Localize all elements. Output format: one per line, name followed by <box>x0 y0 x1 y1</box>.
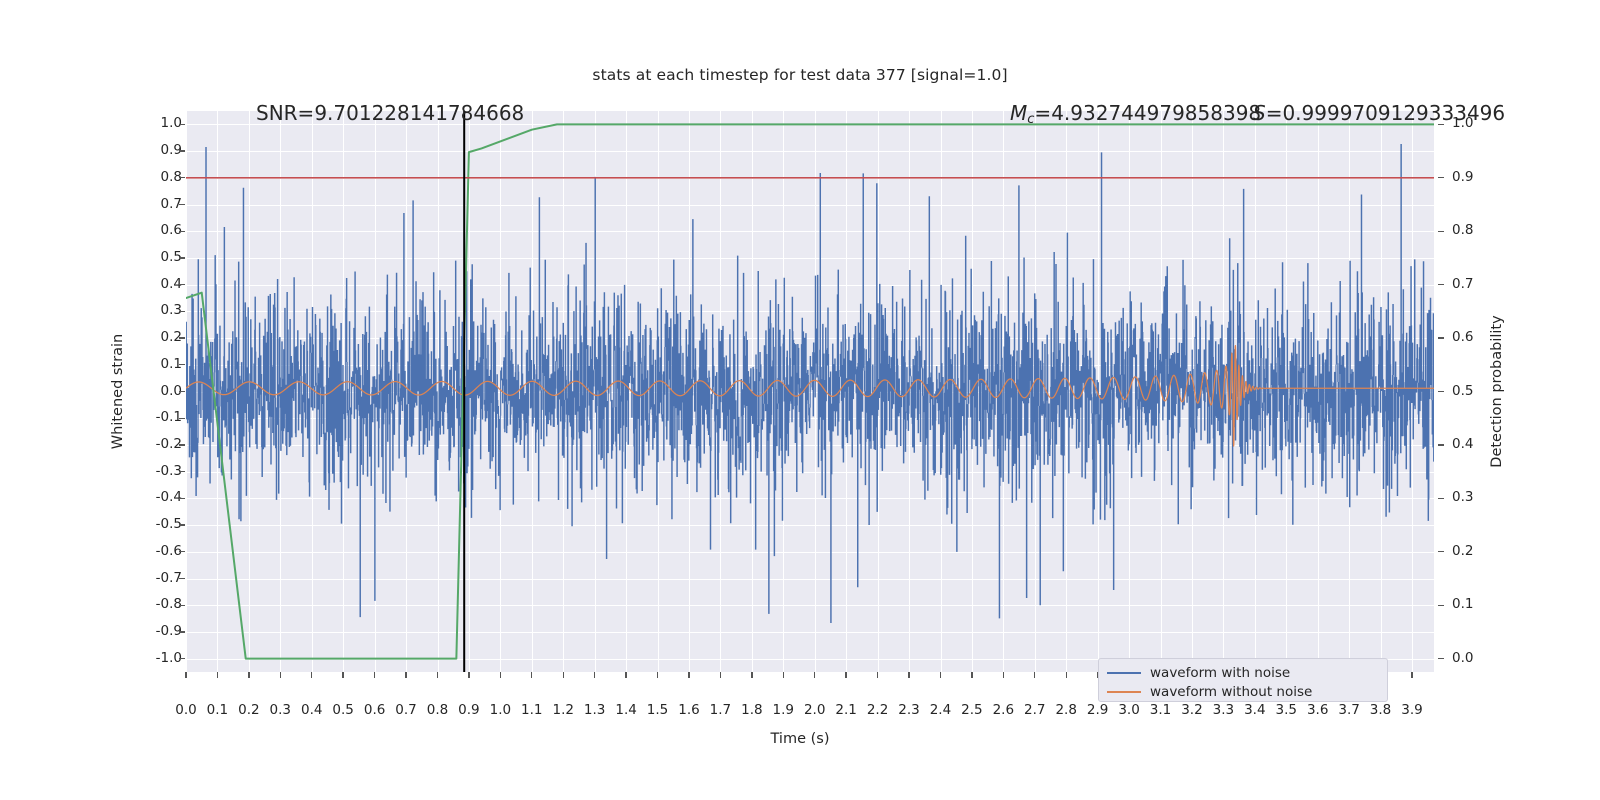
x-tick-label: 1.7 <box>710 702 731 718</box>
x-tick-label: 1.4 <box>615 702 636 718</box>
legend-label-clean: waveform without noise <box>1150 684 1312 700</box>
x-tick-label: 3.8 <box>1370 702 1391 718</box>
x-tick-mark <box>311 672 312 678</box>
x-tick-label: 1.2 <box>552 702 573 718</box>
x-tick-label: 3.3 <box>1213 702 1234 718</box>
x-tick-label: 3.2 <box>1181 702 1202 718</box>
plot-area <box>186 111 1434 672</box>
x-tick-mark <box>625 672 626 678</box>
y-tick-label-right: 0.5 <box>1452 383 1473 399</box>
x-tick-label: 0.0 <box>175 702 196 718</box>
x-tick-mark <box>248 672 249 678</box>
x-tick-mark <box>1411 672 1412 678</box>
score-value: 0.9999709129333496 <box>1282 101 1505 125</box>
snr-annotation-label: SNR= <box>256 101 314 125</box>
y-tick-mark-left <box>179 311 185 312</box>
x-tick-label: 3.5 <box>1276 702 1297 718</box>
x-tick-label: 0.2 <box>238 702 259 718</box>
x-tick-mark <box>500 672 501 678</box>
y-tick-mark-left <box>179 578 185 579</box>
x-tick-label: 0.9 <box>458 702 479 718</box>
x-tick-label: 2.9 <box>1087 702 1108 718</box>
snr-annotation-value: 9.701228141784668 <box>314 101 524 125</box>
x-tick-mark <box>563 672 564 678</box>
x-tick-label: 3.9 <box>1401 702 1422 718</box>
x-tick-mark <box>531 672 532 678</box>
y-tick-mark-left <box>179 231 185 232</box>
x-tick-label: 0.1 <box>207 702 228 718</box>
x-tick-mark <box>720 672 721 678</box>
y-tick-mark-left <box>179 284 185 285</box>
legend-swatch-clean <box>1107 691 1141 693</box>
x-tick-label: 0.8 <box>427 702 448 718</box>
y-tick-mark-right <box>1438 177 1444 178</box>
x-tick-mark <box>908 672 909 678</box>
x-tick-mark <box>437 672 438 678</box>
chirp-mass-equals: = <box>1034 101 1051 125</box>
y-tick-mark-right <box>1438 444 1444 445</box>
y-tick-mark-left <box>179 364 185 365</box>
x-tick-label: 2.2 <box>867 702 888 718</box>
snr-annotation: SNR=9.701228141784668 <box>256 101 524 125</box>
y-tick-label-right: 0.8 <box>1452 222 1473 238</box>
chirp-mass-value: 4.932744979858398 <box>1051 101 1261 125</box>
x-tick-mark <box>185 672 186 678</box>
y-tick-label-right: 0.6 <box>1452 329 1473 345</box>
y-tick-mark-left <box>179 498 185 499</box>
x-tick-mark <box>845 672 846 678</box>
y-tick-label-right: 0.3 <box>1452 489 1473 505</box>
y-tick-mark-left <box>179 204 185 205</box>
legend-item-clean[interactable]: waveform without noise <box>1107 683 1379 701</box>
x-tick-label: 2.0 <box>804 702 825 718</box>
y-tick-label-right: 0.2 <box>1452 543 1473 559</box>
y-axis-label-left: Whitened strain <box>110 111 140 672</box>
legend-swatch-noisy <box>1107 672 1141 674</box>
y-tick-mark-left <box>179 391 185 392</box>
x-tick-mark <box>783 672 784 678</box>
y-tick-mark-right <box>1438 391 1444 392</box>
x-tick-label: 1.6 <box>678 702 699 718</box>
chirp-mass-annotation: Mc=4.932744979858398 <box>1010 101 1261 127</box>
data-layer <box>186 111 1434 672</box>
y-tick-label-right: 0.0 <box>1452 650 1473 666</box>
x-tick-label: 2.4 <box>930 702 951 718</box>
chirp-mass-symbol: M <box>1010 101 1027 125</box>
legend-item-noisy[interactable]: waveform with noise <box>1107 664 1379 682</box>
legend-label-noisy: waveform with noise <box>1150 665 1290 681</box>
x-tick-label: 2.7 <box>1024 702 1045 718</box>
x-tick-mark <box>971 672 972 678</box>
x-tick-label: 1.5 <box>647 702 668 718</box>
y-tick-mark-left <box>179 150 185 151</box>
y-tick-label-right: 0.9 <box>1452 169 1473 185</box>
x-tick-mark <box>374 672 375 678</box>
x-tick-label: 3.1 <box>1150 702 1171 718</box>
x-tick-label: 2.3 <box>898 702 919 718</box>
y-tick-mark-left <box>179 631 185 632</box>
x-tick-label: 3.6 <box>1307 702 1328 718</box>
score-symbol: S= <box>1253 101 1282 125</box>
y-tick-mark-left <box>179 337 185 338</box>
x-tick-label: 1.9 <box>773 702 794 718</box>
y-tick-label-right: 0.4 <box>1452 436 1473 452</box>
y-tick-mark-left <box>179 658 185 659</box>
x-tick-mark <box>405 672 406 678</box>
x-axis-label: Time (s) <box>0 731 1600 747</box>
y-axis-label-right: Detection probability <box>1489 111 1519 672</box>
x-tick-label: 0.6 <box>364 702 385 718</box>
x-tick-mark <box>594 672 595 678</box>
x-tick-label: 2.5 <box>961 702 982 718</box>
y-tick-mark-right <box>1438 658 1444 659</box>
x-tick-mark <box>1066 672 1067 678</box>
x-tick-label: 1.0 <box>490 702 511 718</box>
y-tick-mark-left <box>179 605 185 606</box>
y-tick-label-right: 0.7 <box>1452 276 1473 292</box>
y-tick-mark-right <box>1438 605 1444 606</box>
x-tick-label: 0.7 <box>395 702 416 718</box>
y-tick-mark-left <box>179 551 185 552</box>
x-tick-label: 2.8 <box>1055 702 1076 718</box>
x-tick-mark <box>751 672 752 678</box>
y-tick-mark-left <box>179 524 185 525</box>
x-tick-label: 3.0 <box>1118 702 1139 718</box>
y-tick-mark-right <box>1438 498 1444 499</box>
x-tick-label: 0.3 <box>270 702 291 718</box>
y-tick-mark-left <box>179 177 185 178</box>
x-tick-mark <box>688 672 689 678</box>
page-title: stats at each timestep for test data 377… <box>0 66 1600 84</box>
x-tick-mark <box>940 672 941 678</box>
score-annotation: S=0.9999709129333496 <box>1253 101 1505 125</box>
x-tick-label: 0.4 <box>301 702 322 718</box>
x-tick-label: 1.3 <box>584 702 605 718</box>
y-tick-mark-left <box>179 418 185 419</box>
x-tick-mark <box>280 672 281 678</box>
x-tick-mark <box>217 672 218 678</box>
y-tick-mark-right <box>1438 284 1444 285</box>
y-tick-label-right: 0.1 <box>1452 596 1473 612</box>
x-tick-label: 1.1 <box>521 702 542 718</box>
x-tick-mark <box>342 672 343 678</box>
x-tick-mark <box>877 672 878 678</box>
x-tick-label: 2.6 <box>993 702 1014 718</box>
x-tick-mark <box>657 672 658 678</box>
y-tick-mark-left <box>179 124 185 125</box>
y-tick-mark-right <box>1438 551 1444 552</box>
x-tick-mark <box>1003 672 1004 678</box>
x-tick-label: 3.7 <box>1338 702 1359 718</box>
x-tick-label: 1.8 <box>741 702 762 718</box>
legend[interactable]: waveform with noise waveform without noi… <box>1098 658 1388 702</box>
x-tick-mark <box>1034 672 1035 678</box>
y-tick-mark-left <box>179 471 185 472</box>
x-tick-mark <box>468 672 469 678</box>
y-tick-mark-right <box>1438 337 1444 338</box>
y-tick-mark-left <box>179 444 185 445</box>
y-tick-mark-right <box>1438 231 1444 232</box>
x-tick-label: 2.1 <box>835 702 856 718</box>
y-tick-mark-left <box>179 257 185 258</box>
x-tick-label: 0.5 <box>332 702 353 718</box>
x-tick-mark <box>814 672 815 678</box>
x-tick-label: 3.4 <box>1244 702 1265 718</box>
